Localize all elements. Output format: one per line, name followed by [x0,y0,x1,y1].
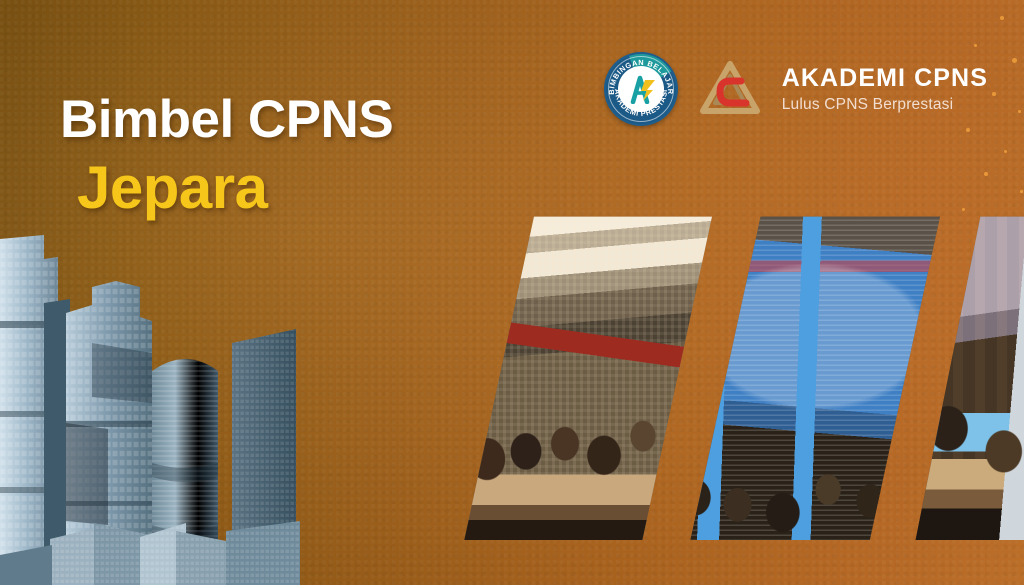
headline-block: Bimbel CPNS Jepara [60,92,393,219]
akademi-prestasi-badge-icon: BIMBINGAN BELAJAR AKADEMI PRESTASI [604,52,678,126]
headline-location: Jepara [77,156,393,219]
promo-banner: Bimbel CPNS Jepara BIMB [0,0,1024,585]
city-skyline-illustration [0,225,345,585]
logo-lockup: BIMBINGAN BELAJAR AKADEMI PRESTASI AKADE… [604,52,988,126]
brand-title: AKADEMI CPNS [782,66,988,91]
akademi-cpns-triangle-mark-icon [700,61,760,117]
brand-tagline: Lulus CPNS Berprestasi [782,97,988,113]
photo-projector-screen-image [680,210,940,540]
photo-seminar-room-image [454,210,712,540]
headline-primary: Bimbel CPNS [60,92,393,148]
badge-arc-bottom-text: AKADEMI PRESTASI [613,89,669,119]
photo-seminar-room [454,210,712,540]
photo-collage [432,210,1024,585]
brand-wordmark: AKADEMI CPNS Lulus CPNS Berprestasi [782,66,988,113]
photo-projector-screen [680,210,940,540]
